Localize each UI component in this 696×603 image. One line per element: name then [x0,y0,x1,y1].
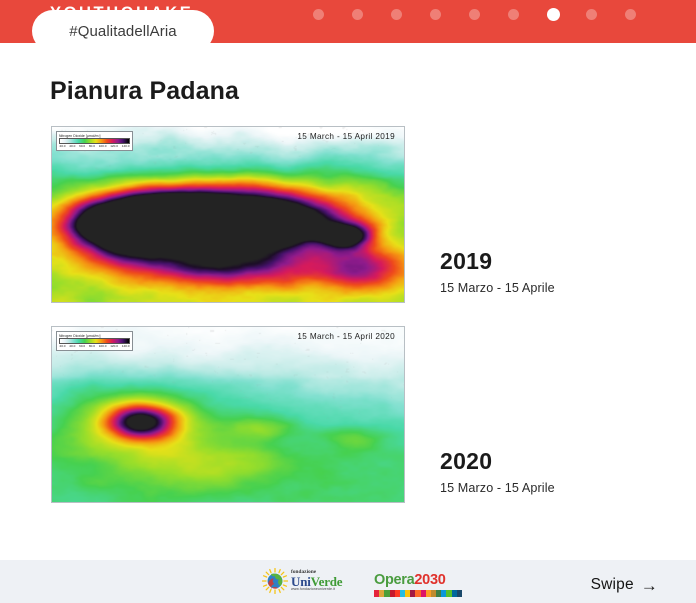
sdg-color-swatch [457,590,462,597]
colorbar-tick: 120.0 [110,144,118,149]
carousel-dot-4[interactable] [430,9,441,20]
colorbar-tick: 120.0 [110,344,118,349]
colorbar-tick: 80.0 [89,344,95,349]
carousel-dot-3[interactable] [391,9,402,20]
carousel-dot-1[interactable] [313,9,324,20]
colorbar-tick: 140.0 [122,144,130,149]
colorbar-legend-2019: Nitrogen Dioxide [µmol/m²] 20.040.060.08… [56,131,133,151]
logo-opera2030[interactable]: Opera2030 [374,572,462,597]
carousel-dot-7[interactable] [547,8,560,21]
arrow-right-icon: → [641,577,658,594]
page-title: Pianura Padana [50,77,239,106]
year-number: 2020 [440,448,555,474]
year-number: 2019 [440,248,555,274]
colorbar-tick: 20.0 [60,344,66,349]
colorbar-tick: 80.0 [89,144,95,149]
colorbar-tick: 40.0 [69,144,75,149]
year-date-range: 15 Marzo - 15 Aprile [440,281,555,295]
colorbar-tick: 40.0 [69,344,75,349]
carousel-dot-9[interactable] [625,9,636,20]
colorbar-tick: 140.0 [122,344,130,349]
map-date-label-2019: 15 March - 15 April 2019 [297,132,395,141]
map-date-label-2020: 15 March - 15 April 2020 [297,332,395,341]
sdg-color-bar [374,590,462,597]
carousel-dot-5[interactable] [469,9,480,20]
univerde-wordmark: fondazione UniVerde www.fondazioneuniver… [291,570,342,592]
carousel-dot-2[interactable] [352,9,363,20]
swipe-hint[interactable]: Swipe → [591,576,658,594]
colorbar-tick: 60.0 [79,344,85,349]
map-figure-2019[interactable]: Nitrogen Dioxide [µmol/m²] 20.040.060.08… [51,126,405,303]
colorbar-tick: 20.0 [60,144,66,149]
year-block-2020: 2020 15 Marzo - 15 Aprile [440,448,555,495]
univerde-url: www.fondazioneuniverde.it [291,588,342,592]
logo-univerde[interactable]: fondazione UniVerde www.fondazioneuniver… [262,568,342,594]
colorbar-ticks: 20.040.060.080.0100.0120.0140.0 [59,344,130,349]
colorbar-tick: 100.0 [99,144,107,149]
no2-heatmap-2020 [52,327,404,502]
colorbar-tick: 60.0 [79,144,85,149]
year-date-range: 15 Marzo - 15 Aprile [440,481,555,495]
hashtag-label: #QualitadellAria [69,23,177,40]
colorbar-ticks: 20.040.060.080.0100.0120.0140.0 [59,144,130,149]
opera2030-wordmark: Opera2030 [374,572,462,588]
map-figure-2020[interactable]: Nitrogen Dioxide [µmol/m²] 20.040.060.08… [51,326,405,503]
year-block-2019: 2019 15 Marzo - 15 Aprile [440,248,555,295]
carousel-dots[interactable] [300,7,650,23]
no2-heatmap-2019 [52,127,404,302]
swipe-label: Swipe [591,576,634,594]
carousel-dot-6[interactable] [508,9,519,20]
colorbar-legend-2020: Nitrogen Dioxide [µmol/m²] 20.040.060.08… [56,331,133,351]
sun-globe-icon [262,568,288,594]
hashtag-pill[interactable]: #QualitadellAria [32,10,214,52]
colorbar-tick: 100.0 [99,344,107,349]
carousel-dot-8[interactable] [586,9,597,20]
main-content: Pianura Padana Nitrogen Dioxide [µmol/m²… [0,43,696,560]
